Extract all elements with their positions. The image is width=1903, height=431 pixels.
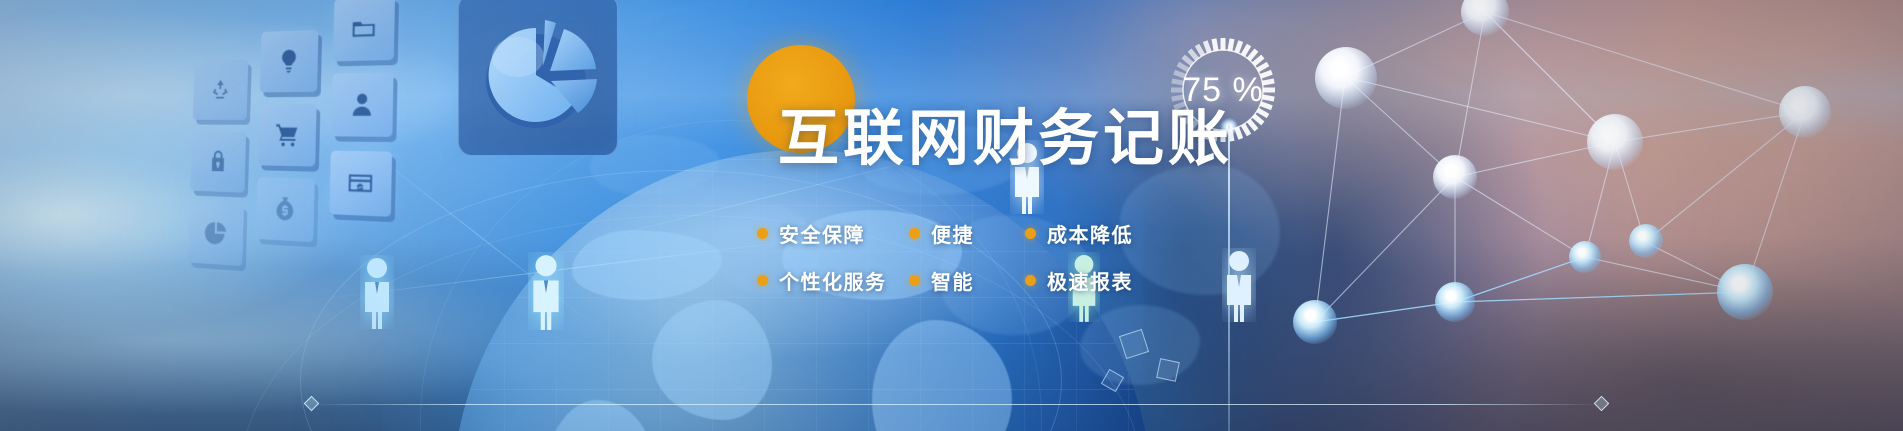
- feature-item[interactable]: 安全保障: [757, 219, 909, 248]
- feature-item[interactable]: 成本降低: [1025, 219, 1133, 248]
- bullet-dot-icon: [909, 275, 920, 286]
- feature-label: 成本降低: [1047, 219, 1133, 248]
- feature-item[interactable]: 智能: [909, 266, 1025, 295]
- feature-row: 个性化服务 智能 极速报表: [757, 257, 1227, 304]
- feature-label: 便捷: [931, 219, 974, 248]
- feature-item[interactable]: 个性化服务: [757, 266, 909, 295]
- page-title: 互联网财务记账: [778, 108, 1233, 169]
- banner-content: 互联网财务记账 安全保障 便捷 成本降低 个性化服务: [0, 0, 1903, 431]
- feature-row: 安全保障 便捷 成本降低: [757, 210, 1227, 257]
- bullet-dot-icon: [909, 228, 920, 239]
- feature-label: 安全保障: [779, 219, 865, 248]
- feature-label: 极速报表: [1047, 266, 1133, 295]
- feature-label: 智能: [931, 266, 974, 295]
- bullet-dot-icon: [757, 275, 768, 286]
- feature-item[interactable]: 便捷: [909, 219, 1025, 248]
- bullet-dot-icon: [757, 228, 768, 239]
- bullet-dot-icon: [1025, 275, 1036, 286]
- marketing-banner: 75 %: [0, 0, 1903, 431]
- feature-label: 个性化服务: [779, 266, 887, 295]
- bullet-dot-icon: [1025, 228, 1036, 239]
- feature-list: 安全保障 便捷 成本降低 个性化服务 智能: [757, 210, 1227, 304]
- feature-item[interactable]: 极速报表: [1025, 266, 1133, 295]
